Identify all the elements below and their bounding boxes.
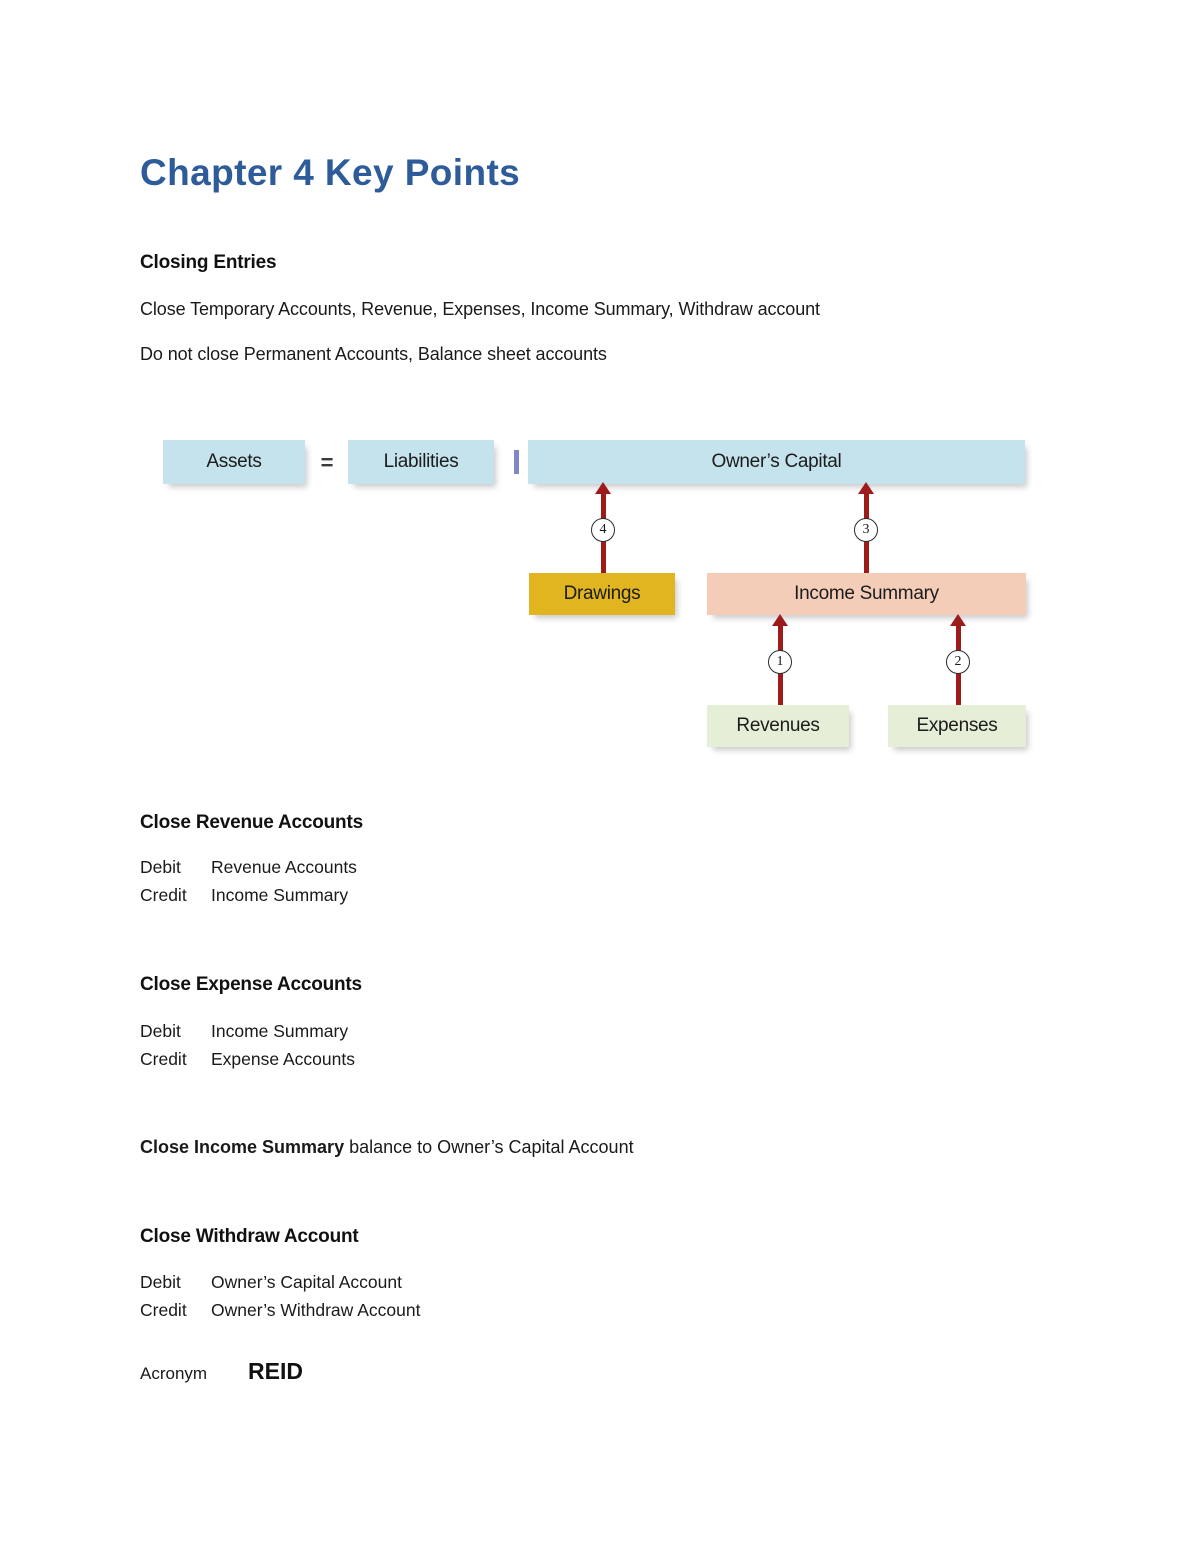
heading-close-expense-accounts: Close Expense Accounts xyxy=(140,974,362,996)
diagram-box-drawings: Drawings xyxy=(529,573,675,615)
close-revenue-debit-value: Revenue Accounts xyxy=(211,857,357,878)
arrow-line-drawings-to-capital xyxy=(601,492,606,575)
step-marker-1: 1 xyxy=(768,650,792,674)
close-withdraw-debit-value: Owner’s Capital Account xyxy=(211,1272,402,1293)
arrow-head-drawings-to-capital xyxy=(595,482,611,494)
close-revenue-credit-label: Credit xyxy=(140,885,187,906)
diagram-box-income-summary-label: Income Summary xyxy=(794,583,939,605)
close-expense-debit-label: Debit xyxy=(140,1021,181,1042)
diagram-box-revenues: Revenues xyxy=(707,705,849,747)
close-revenue-credit-value: Income Summary xyxy=(211,885,348,906)
diagram-box-liabilities-label: Liabilities xyxy=(384,451,459,473)
close-expense-credit-value: Expense Accounts xyxy=(211,1049,355,1070)
acronym-label: Acronym xyxy=(140,1364,207,1384)
closing-entries-line-1: Close Temporary Accounts, Revenue, Expen… xyxy=(140,299,820,320)
plus-sign-icon xyxy=(514,450,519,474)
page-title: Chapter 4 Key Points xyxy=(140,152,520,194)
close-withdraw-credit-label: Credit xyxy=(140,1300,187,1321)
arrow-head-income-summary-to-capital xyxy=(858,482,874,494)
diagram-box-owners-capital-label: Owner’s Capital xyxy=(712,451,842,473)
arrow-head-expenses-to-income-summary xyxy=(950,614,966,626)
heading-close-withdraw-account: Close Withdraw Account xyxy=(140,1226,359,1248)
close-expense-debit-value: Income Summary xyxy=(211,1021,348,1042)
step-marker-4: 4 xyxy=(591,518,615,542)
acronym-value: REID xyxy=(248,1358,303,1385)
heading-closing-entries: Closing Entries xyxy=(140,252,276,274)
arrow-line-income-summary-to-capital xyxy=(864,492,869,575)
diagram-box-liabilities: Liabilities xyxy=(348,440,494,484)
arrow-line-expenses-to-income-summary xyxy=(956,624,961,707)
arrow-line-revenues-to-income-summary xyxy=(778,624,783,707)
diagram-box-assets: Assets xyxy=(163,440,305,484)
close-withdraw-credit-value: Owner’s Withdraw Account xyxy=(211,1300,420,1321)
close-expense-credit-label: Credit xyxy=(140,1049,187,1070)
close-income-summary-bold: Close Income Summary xyxy=(140,1137,344,1157)
closing-entries-line-2: Do not close Permanent Accounts, Balance… xyxy=(140,344,607,365)
document-page: Chapter 4 Key Points Closing Entries Clo… xyxy=(0,0,1200,1553)
close-revenue-debit-label: Debit xyxy=(140,857,181,878)
arrow-head-revenues-to-income-summary xyxy=(772,614,788,626)
diagram-box-drawings-label: Drawings xyxy=(564,583,641,605)
diagram-box-assets-label: Assets xyxy=(206,451,261,473)
equals-sign: = xyxy=(313,450,341,476)
heading-close-revenue-accounts: Close Revenue Accounts xyxy=(140,812,363,834)
diagram-box-owners-capital: Owner’s Capital xyxy=(528,440,1025,484)
close-withdraw-debit-label: Debit xyxy=(140,1272,181,1293)
step-marker-2: 2 xyxy=(946,650,970,674)
close-income-summary-rest: balance to Owner’s Capital Account xyxy=(344,1137,634,1157)
diagram-box-revenues-label: Revenues xyxy=(736,715,819,737)
close-income-summary-line: Close Income Summary balance to Owner’s … xyxy=(140,1137,634,1158)
diagram-box-expenses-label: Expenses xyxy=(916,715,997,737)
diagram-box-income-summary: Income Summary xyxy=(707,573,1026,615)
step-marker-3: 3 xyxy=(854,518,878,542)
diagram-box-expenses: Expenses xyxy=(888,705,1026,747)
